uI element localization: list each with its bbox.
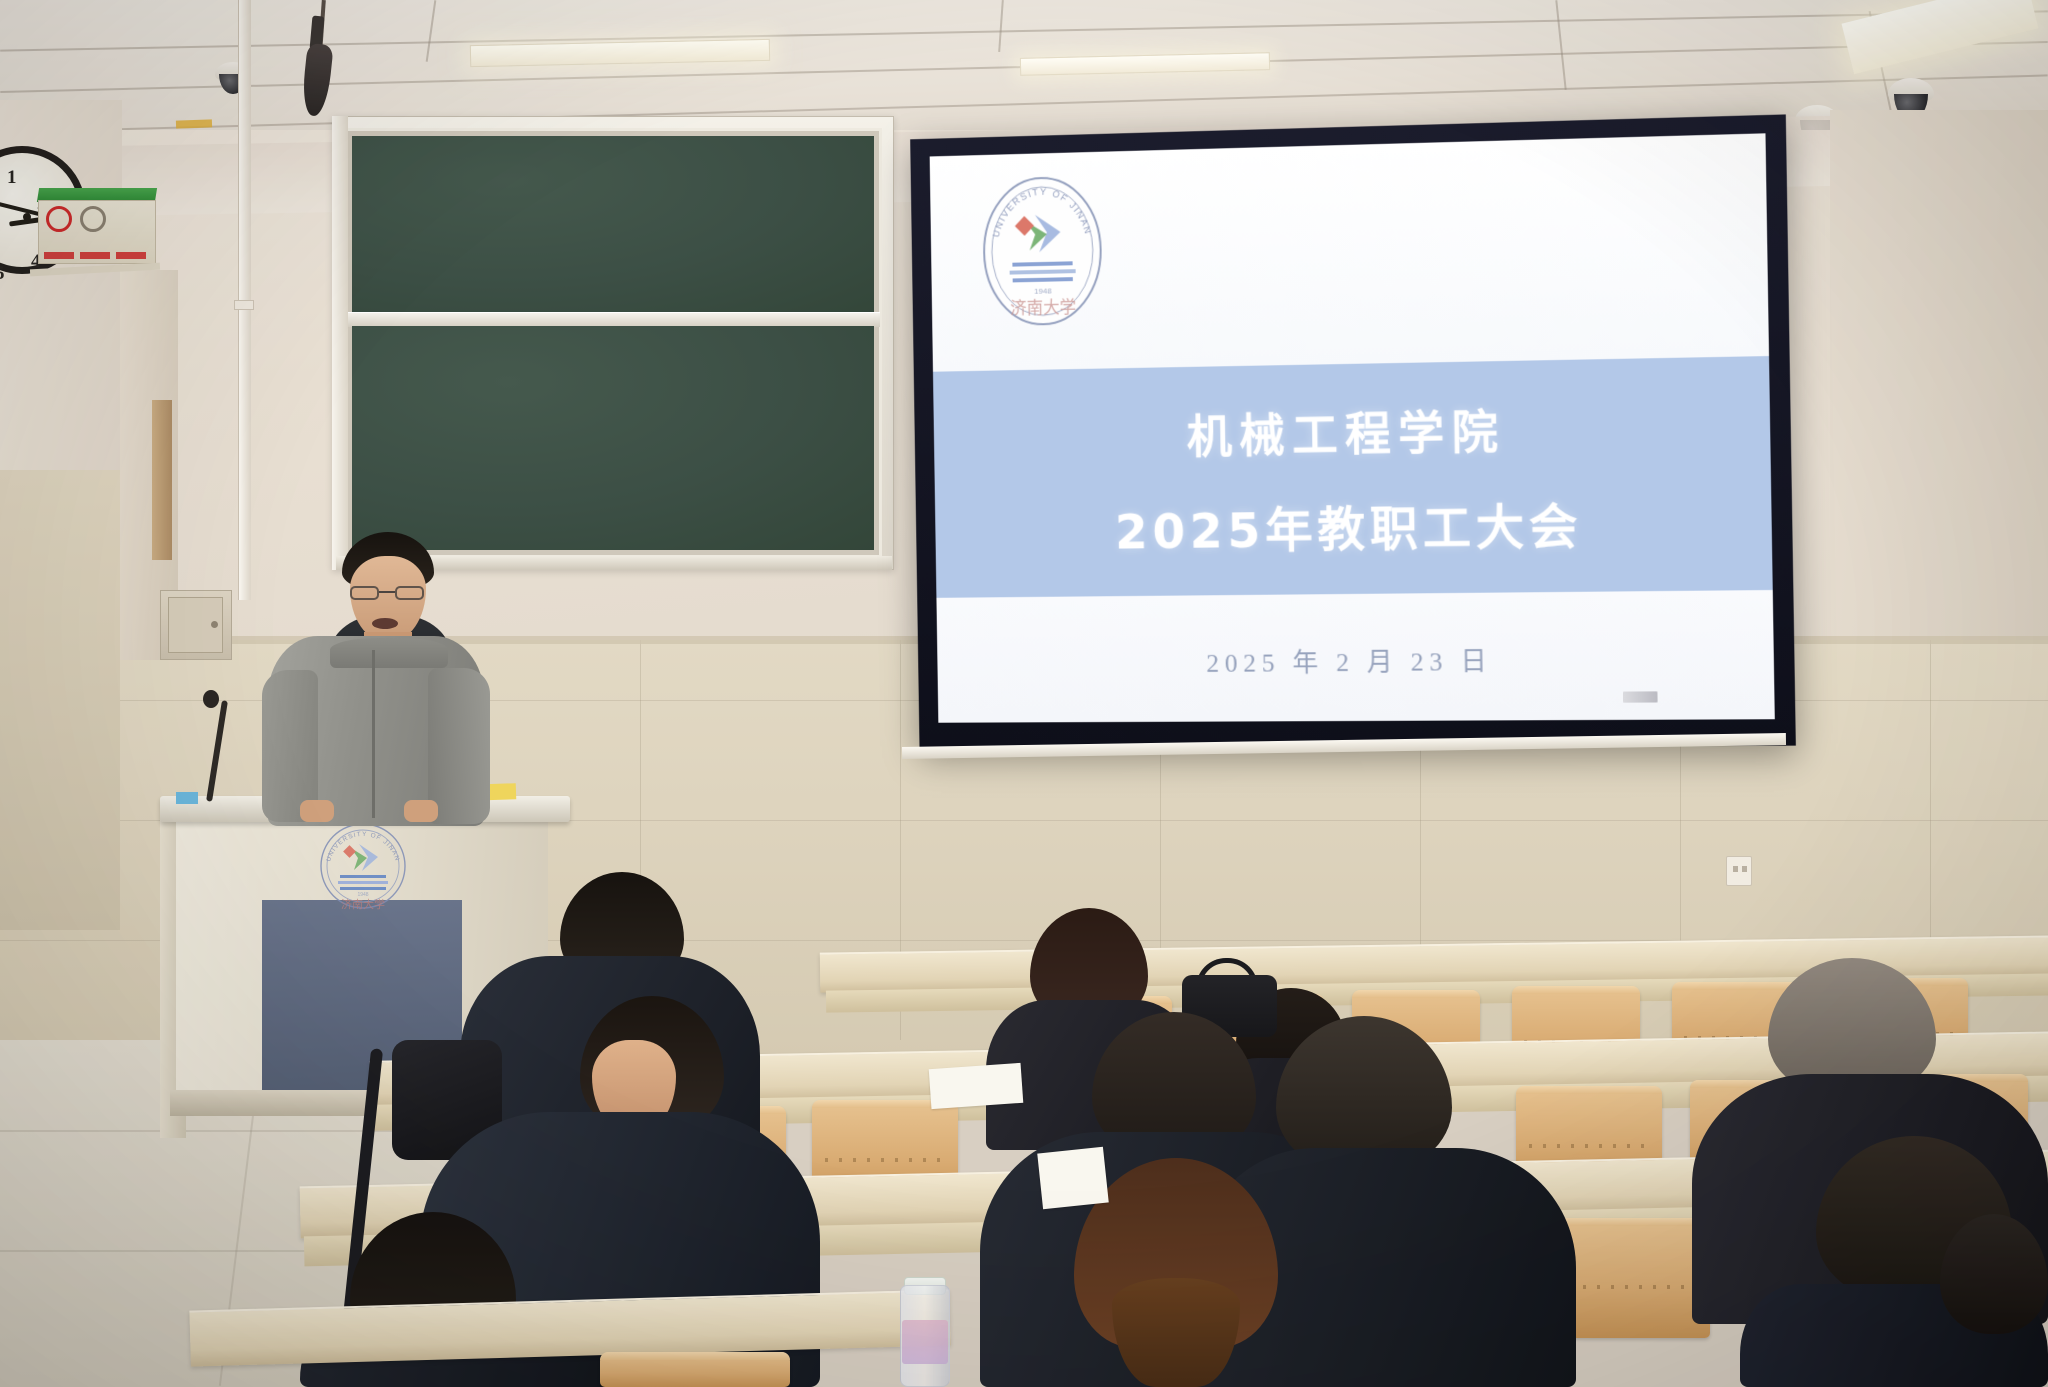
power-outlet-icon [1726, 856, 1752, 886]
no-fire-icon [80, 206, 106, 232]
conduit-clip [234, 300, 254, 310]
wooden-wall-strip [152, 400, 172, 560]
speaker-mouth [372, 618, 398, 629]
no-littering-icon [116, 206, 142, 232]
screen-brand-logo [1623, 691, 1658, 702]
speaker-left-hand [300, 800, 334, 822]
bottle-label [902, 1320, 948, 1364]
podium-label-tag [176, 792, 198, 804]
blackboard-divider-rail [346, 312, 880, 327]
projection-screen[interactable]: UNIVERSITY OF JINAN 1948 济南大学 [910, 114, 1796, 748]
ceiling-seam [998, 0, 1004, 52]
university-seal: UNIVERSITY OF JINAN 1948 济南大学 [318, 820, 408, 912]
speaker-collar [330, 638, 448, 668]
slide-title: 机械工程学院 [1186, 395, 1506, 466]
clock-number: 5 [0, 263, 5, 285]
slide-date: 2025 年 2 月 23 日 [1206, 641, 1493, 680]
sign-label-bar [44, 252, 74, 259]
right-wall [1830, 110, 2048, 670]
blackboard-side-rail [332, 116, 348, 570]
blackboard-panel-upper [352, 136, 874, 316]
clock-number: 1 [7, 167, 17, 189]
classroom-meeting-photo: 12 1 2 3 4 5 [0, 0, 2048, 1387]
presentation-slide: UNIVERSITY OF JINAN 1948 济南大学 [930, 133, 1775, 722]
speaker-right-hand [404, 800, 438, 822]
slide-header-band: UNIVERSITY OF JINAN 1948 济南大学 [930, 133, 1769, 371]
utility-box-knob [211, 621, 218, 628]
notes-sheet [1037, 1147, 1108, 1210]
sign-label-bar [116, 252, 146, 259]
left-wall-wainscot [0, 470, 120, 930]
chair[interactable] [600, 1352, 790, 1387]
slide-footer-band: 2025 年 2 月 23 日 [936, 590, 1774, 722]
slide-title-band: 机械工程学院 2025年教职工大会 [933, 356, 1773, 598]
ceiling-seam [426, 0, 437, 62]
ceiling-seam [0, 10, 2048, 51]
yellow-wall-marker [176, 119, 212, 128]
notes-sheet [929, 1063, 1024, 1109]
speaker-jacket-zipper [372, 650, 375, 818]
clock-center-pin [23, 213, 31, 221]
speaker-right-arm [428, 668, 490, 824]
ceiling-seam [1555, 0, 1566, 90]
podium-microphone-head [203, 690, 219, 708]
blackboard-panel-lower [352, 326, 874, 550]
svg-text:1948: 1948 [1035, 286, 1053, 295]
glasses-icon [348, 586, 428, 600]
university-seal: UNIVERSITY OF JINAN 1948 济南大学 [979, 171, 1108, 330]
sign-label-bar [80, 252, 110, 259]
projection-screen-display: UNIVERSITY OF JINAN 1948 济南大学 [930, 133, 1775, 722]
svg-text:济南大学: 济南大学 [341, 897, 385, 911]
no-smoking-icon [46, 206, 72, 232]
slide-subtitle: 2025年教职工大会 [1114, 487, 1583, 563]
svg-text:济南大学: 济南大学 [1010, 296, 1076, 317]
